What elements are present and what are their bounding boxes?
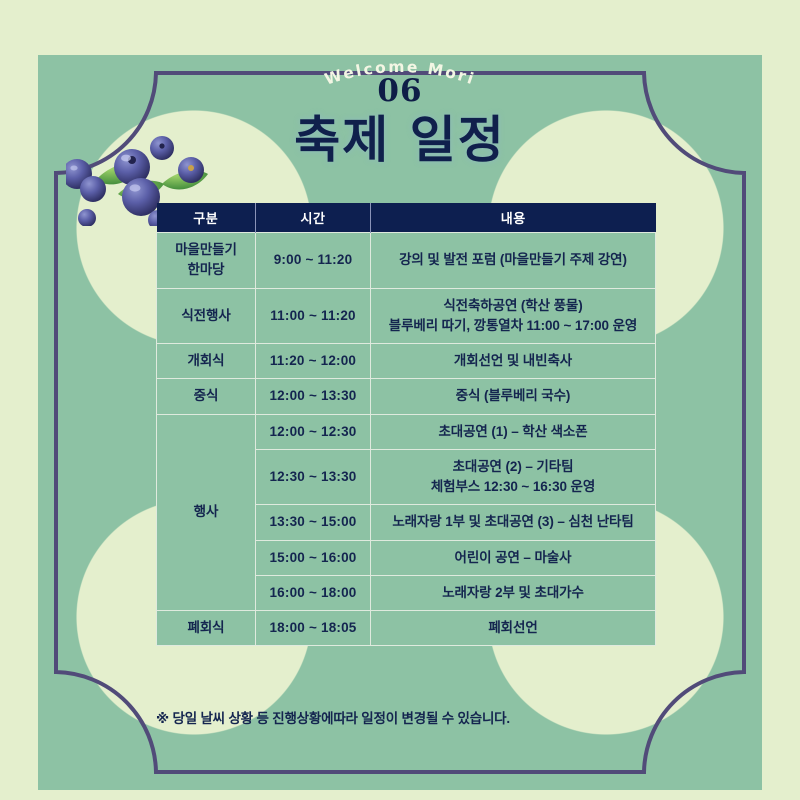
table-header-row: 구분 시간 내용 <box>157 203 656 233</box>
cell-description: 노래자랑 1부 및 초대공연 (3) – 심천 난타팀 <box>371 505 656 540</box>
schedule-table-container: 구분 시간 내용 마을만들기한마당9:00 ~ 11:20강의 및 발전 포럼 … <box>156 203 655 646</box>
issue-number: 06 <box>0 76 800 107</box>
cell-description: 노래자랑 2부 및 초대가수 <box>371 575 656 610</box>
cell-time: 11:20 ~ 12:00 <box>256 344 371 379</box>
cell-time: 18:00 ~ 18:05 <box>256 611 371 646</box>
cell-time: 11:00 ~ 11:20 <box>256 288 371 344</box>
cell-time: 15:00 ~ 16:00 <box>256 540 371 575</box>
column-header-description: 내용 <box>371 203 656 233</box>
cell-description: 식전축하공연 (학산 풍물)블루베리 따기, 깡통열차 11:00 ~ 17:0… <box>371 288 656 344</box>
cell-division: 중식 <box>157 379 256 414</box>
cell-description: 중식 (블루베리 국수) <box>371 379 656 414</box>
cell-time: 12:00 ~ 12:30 <box>256 414 371 449</box>
cell-description: 강의 및 발전 포럼 (마을만들기 주제 강연) <box>371 233 656 289</box>
table-row: 식전행사11:00 ~ 11:20식전축하공연 (학산 풍물)블루베리 따기, … <box>157 288 656 344</box>
cell-description: 초대공연 (1) – 학산 색소폰 <box>371 414 656 449</box>
cell-time: 12:00 ~ 13:30 <box>256 379 371 414</box>
table-row: 마을만들기한마당9:00 ~ 11:20강의 및 발전 포럼 (마을만들기 주제… <box>157 233 656 289</box>
schedule-disclaimer-note: ※ 당일 날씨 상황 등 진행상황에따라 일정이 변경될 수 있습니다. <box>156 707 716 727</box>
schedule-table-body: 마을만들기한마당9:00 ~ 11:20강의 및 발전 포럼 (마을만들기 주제… <box>157 233 656 646</box>
cell-division: 개회식 <box>157 344 256 379</box>
cell-division: 식전행사 <box>157 288 256 344</box>
cell-time: 16:00 ~ 18:00 <box>256 575 371 610</box>
cell-description: 초대공연 (2) – 기타팀체험부스 12:30 ~ 16:30 운영 <box>371 449 656 505</box>
cell-description: 폐회선언 <box>371 611 656 646</box>
cell-time: 9:00 ~ 11:20 <box>256 233 371 289</box>
cell-time: 13:30 ~ 15:00 <box>256 505 371 540</box>
table-row: 개회식11:20 ~ 12:00개회선언 및 내빈축사 <box>157 344 656 379</box>
cell-time: 12:30 ~ 13:30 <box>256 449 371 505</box>
table-row: 폐회식18:00 ~ 18:05폐회선언 <box>157 611 656 646</box>
cell-division: 마을만들기한마당 <box>157 233 256 289</box>
cell-description: 어린이 공연 – 마술사 <box>371 540 656 575</box>
column-header-division: 구분 <box>157 203 256 233</box>
cell-division: 행사 <box>157 414 256 611</box>
column-header-time: 시간 <box>256 203 371 233</box>
table-row: 중식12:00 ~ 13:30중식 (블루베리 국수) <box>157 379 656 414</box>
table-row: 행사12:00 ~ 12:30초대공연 (1) – 학산 색소폰 <box>157 414 656 449</box>
cell-division: 폐회식 <box>157 611 256 646</box>
cell-description: 개회선언 및 내빈축사 <box>371 344 656 379</box>
festival-schedule-table: 구분 시간 내용 마을만들기한마당9:00 ~ 11:20강의 및 발전 포럼 … <box>156 203 656 646</box>
poster-canvas: Welcome Mori 06 축제 일정 <box>0 0 800 800</box>
